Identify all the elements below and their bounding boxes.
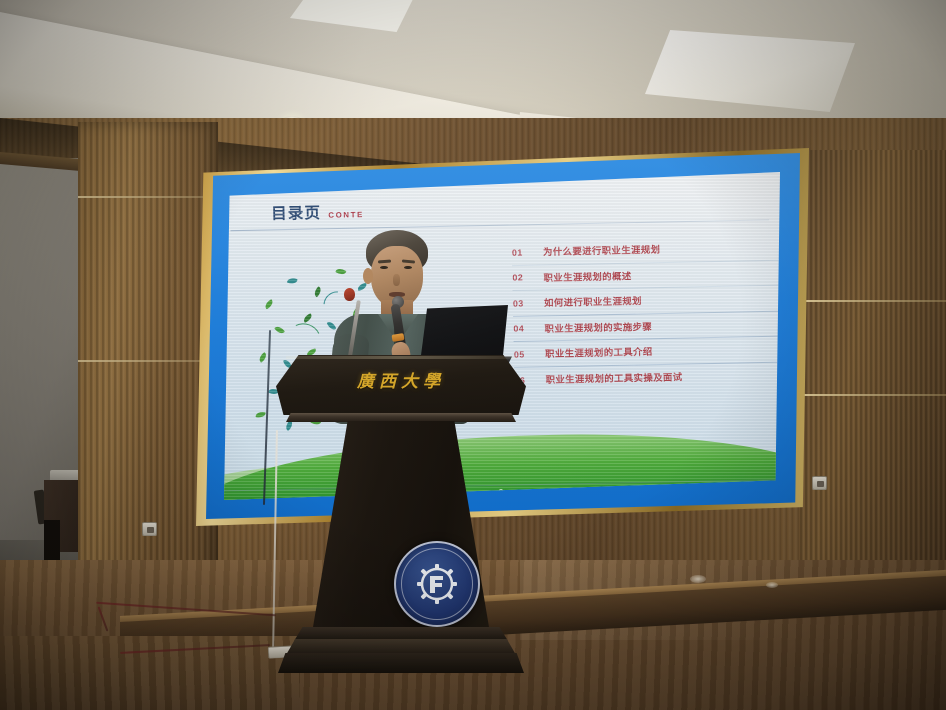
- toc-label: 职业生涯规划的概述: [543, 269, 631, 284]
- podium-body: [312, 421, 490, 633]
- lectern-podium: 廣西大學: [276, 355, 526, 675]
- toc-number: 04: [513, 323, 531, 334]
- floor-light-reflection: [766, 582, 778, 588]
- toc-label: 职业生涯规划的工具介绍: [545, 345, 653, 361]
- speaker-nose: [393, 274, 400, 286]
- gooseneck-microphone-head: [344, 288, 355, 301]
- podium-lip: [286, 413, 516, 422]
- toc-label: 如何进行职业生涯规划: [544, 294, 642, 309]
- toc-number: 03: [513, 298, 531, 309]
- podium-university-name: 廣西大學: [276, 367, 526, 392]
- slide-toc-list: 01 为什么要进行职业生涯规划 02 职业生涯规划的概述 03 如何进行职业生涯…: [512, 235, 780, 393]
- wall-trim-line: [78, 196, 218, 198]
- toc-label: 职业生涯规划的实施步骤: [544, 319, 652, 335]
- floor-light-reflection: [690, 575, 706, 583]
- speaker-ear: [363, 268, 373, 284]
- wall-outlet-right[interactable]: [812, 476, 827, 490]
- toc-number: 01: [512, 247, 530, 258]
- wall-outlet-left[interactable]: [142, 522, 157, 536]
- toc-row: 06 职业生涯规划的工具实操及面试: [514, 362, 780, 393]
- lower-floor: [0, 636, 300, 710]
- wall-trim-line: [800, 394, 946, 396]
- podium-base-tier-1: [294, 627, 508, 641]
- podium-top-highlight: [286, 356, 516, 359]
- toc-label: 为什么要进行职业生涯规划: [543, 243, 661, 259]
- slide-title: 目录页 CONTE: [271, 201, 364, 225]
- wall-trim-line: [800, 300, 946, 302]
- slide-title-en: CONTE: [328, 210, 364, 220]
- podium-base-tier-2: [286, 639, 516, 655]
- toc-number: 02: [512, 272, 530, 283]
- slide-title-cn: 目录页: [271, 201, 321, 224]
- toc-label: 职业生涯规划的工具实操及面试: [546, 370, 683, 386]
- wall-trim-line: [78, 360, 218, 362]
- lecture-hall-photo: 目录页 CONTE: [0, 0, 946, 710]
- right-wall-panel: [800, 150, 946, 570]
- podium-base-tier-3: [278, 653, 524, 673]
- gear-icon: [412, 559, 462, 609]
- university-emblem-icon: [394, 541, 480, 627]
